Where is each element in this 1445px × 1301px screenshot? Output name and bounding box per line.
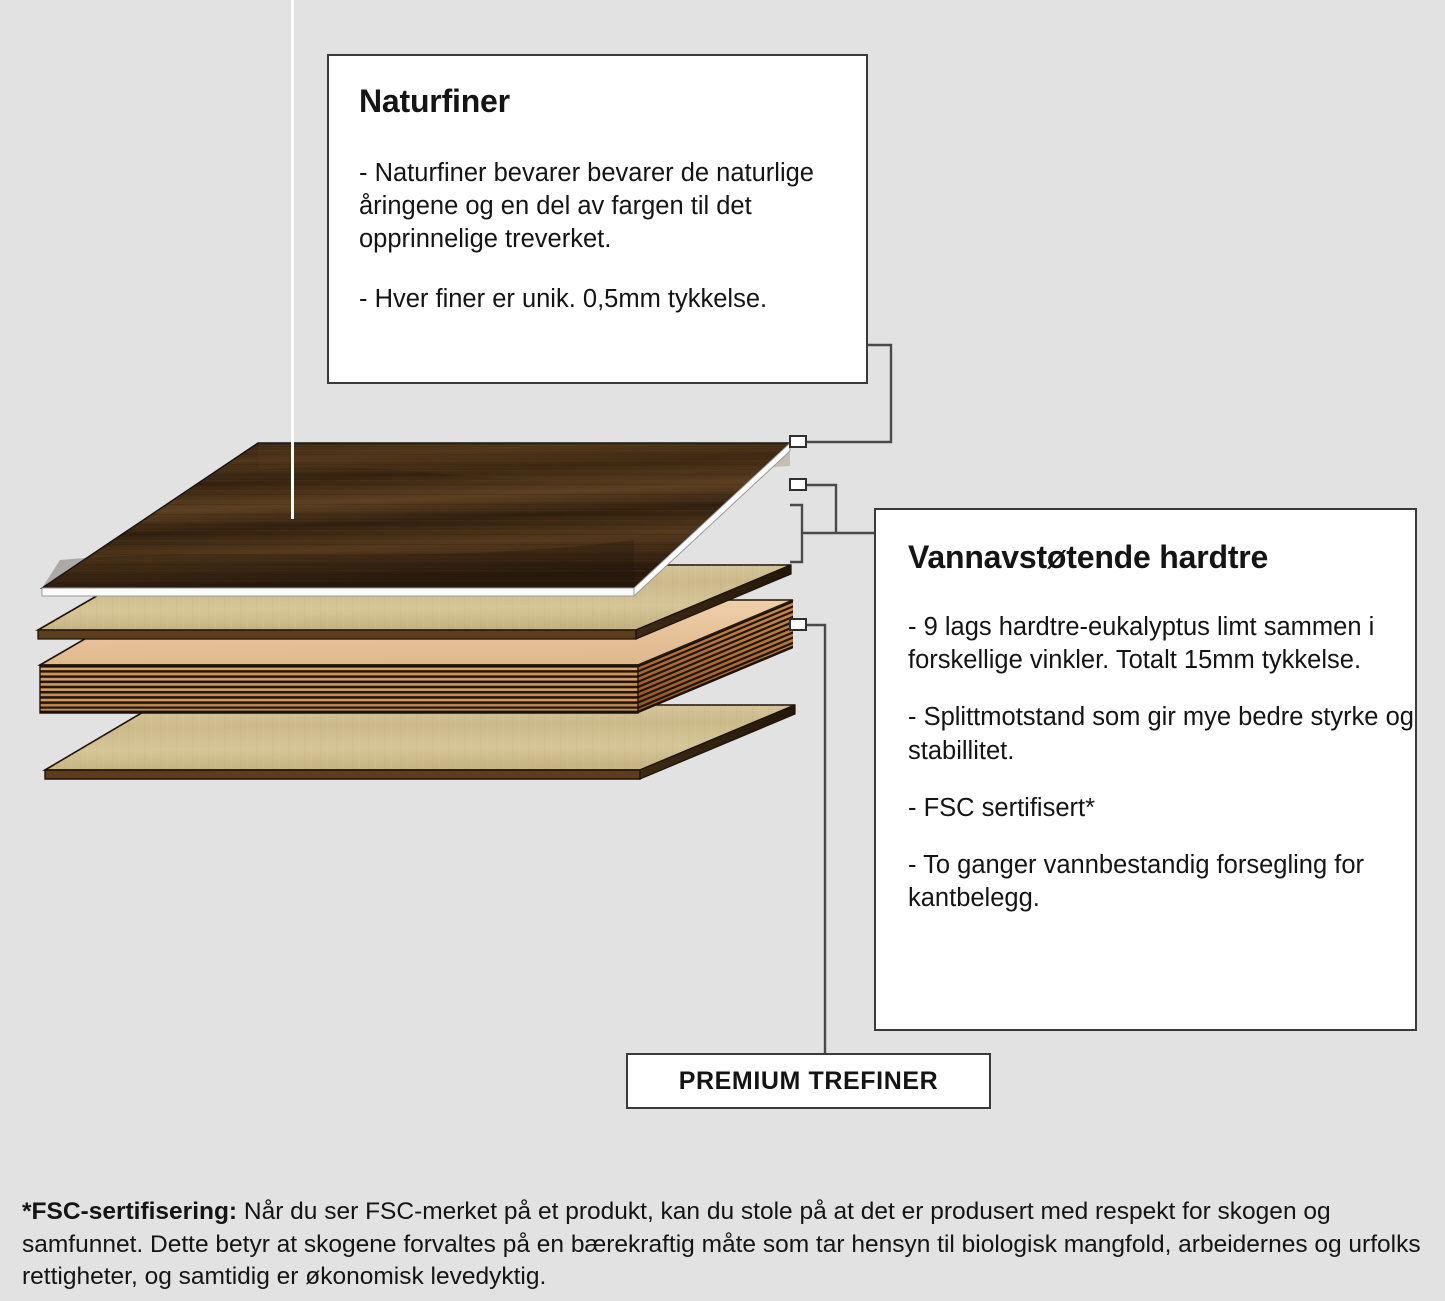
callout-hardtre-body: - 9 lags hardtre-eukalyptus limt sammen …	[908, 611, 1415, 915]
product-label-box: PREMIUM TREFINER	[626, 1053, 991, 1109]
diagram-canvas: Naturfiner - Naturfiner bevarer bevarer …	[0, 0, 1445, 1301]
leader-to-veneer-pointer	[291, 0, 294, 519]
callout-hardtre-bullet-4: - To ganger vannbestandig forsegling for…	[908, 849, 1420, 915]
callout-hardtre-bullet-2: - Splittmotstand som gir mye bedre styrk…	[908, 701, 1418, 767]
product-label-text: PREMIUM TREFINER	[679, 1067, 939, 1096]
core-front-plies	[40, 665, 638, 713]
callout-hardtre: Vannavstøtende hardtre - 9 lags hardtre-…	[874, 508, 1417, 1031]
layer-birch-bottom	[45, 705, 795, 779]
callout-naturfiner: Naturfiner - Naturfiner bevarer bevarer …	[327, 54, 868, 384]
callout-hardtre-title: Vannavstøtende hardtre	[908, 540, 1415, 575]
footnote-label: *FSC-sertifisering:	[22, 1198, 237, 1225]
callout-naturfiner-bullet-2: - Hver finer er unik. 0,5mm tykkelse.	[359, 283, 840, 316]
callout-naturfiner-body: - Naturfiner bevarer bevarer de naturlig…	[359, 157, 840, 316]
callout-naturfiner-title: Naturfiner	[359, 84, 840, 119]
callout-hardtre-bullet-1: - 9 lags hardtre-eukalyptus limt sammen …	[908, 611, 1408, 677]
footnote: *FSC-sertifisering: Når du ser FSC-merke…	[22, 1196, 1422, 1294]
callout-hardtre-bullet-3: - FSC sertifisert*	[908, 792, 1415, 825]
callout-naturfiner-bullet-1: - Naturfiner bevarer bevarer de naturlig…	[359, 157, 840, 256]
